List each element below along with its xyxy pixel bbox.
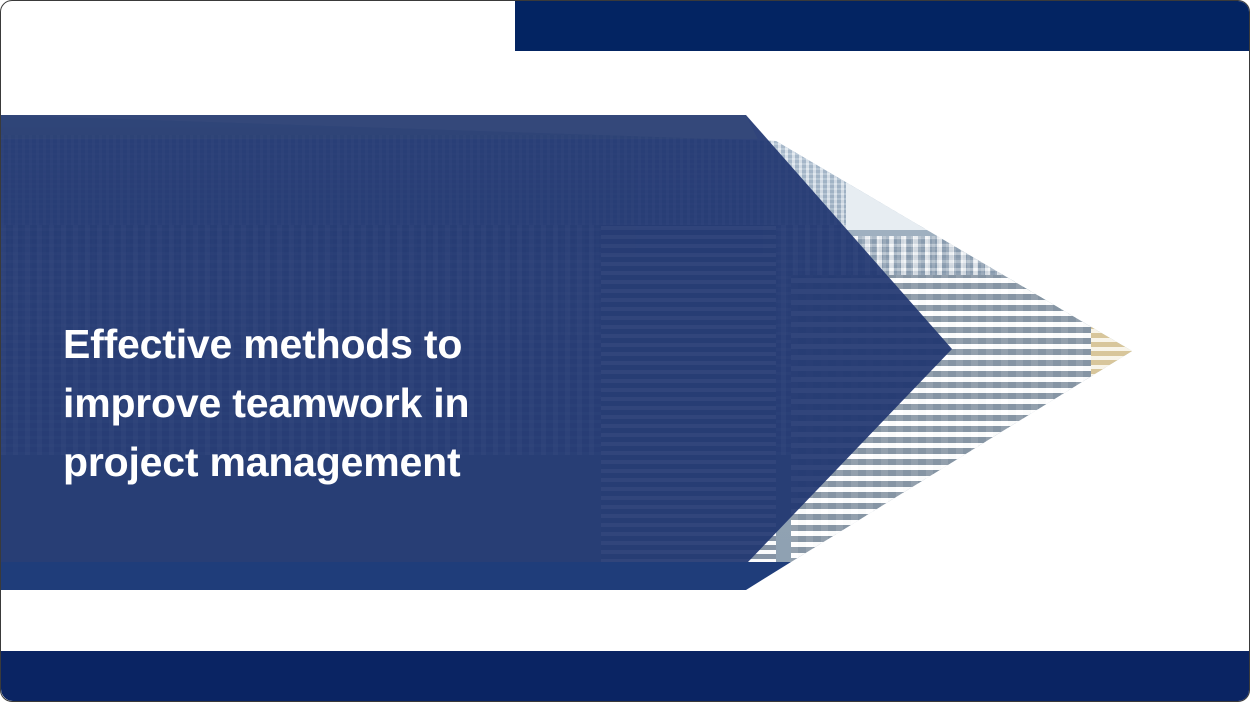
white-slab-building (846, 150, 976, 236)
slide-title: Effective methods to improve teamwork in… (63, 315, 623, 492)
beige-tower (1091, 320, 1151, 450)
navy-under-band (1, 562, 1250, 590)
navy-overlay-top-strip (1, 115, 1250, 139)
red-roof-row (955, 487, 1063, 505)
top-accent-bar (515, 1, 1250, 51)
hero-banner: Effective methods to improve teamwork in… (1, 115, 1250, 590)
slide-canvas: Effective methods to improve teamwork in… (0, 0, 1250, 702)
bottom-accent-bar (1, 651, 1250, 701)
